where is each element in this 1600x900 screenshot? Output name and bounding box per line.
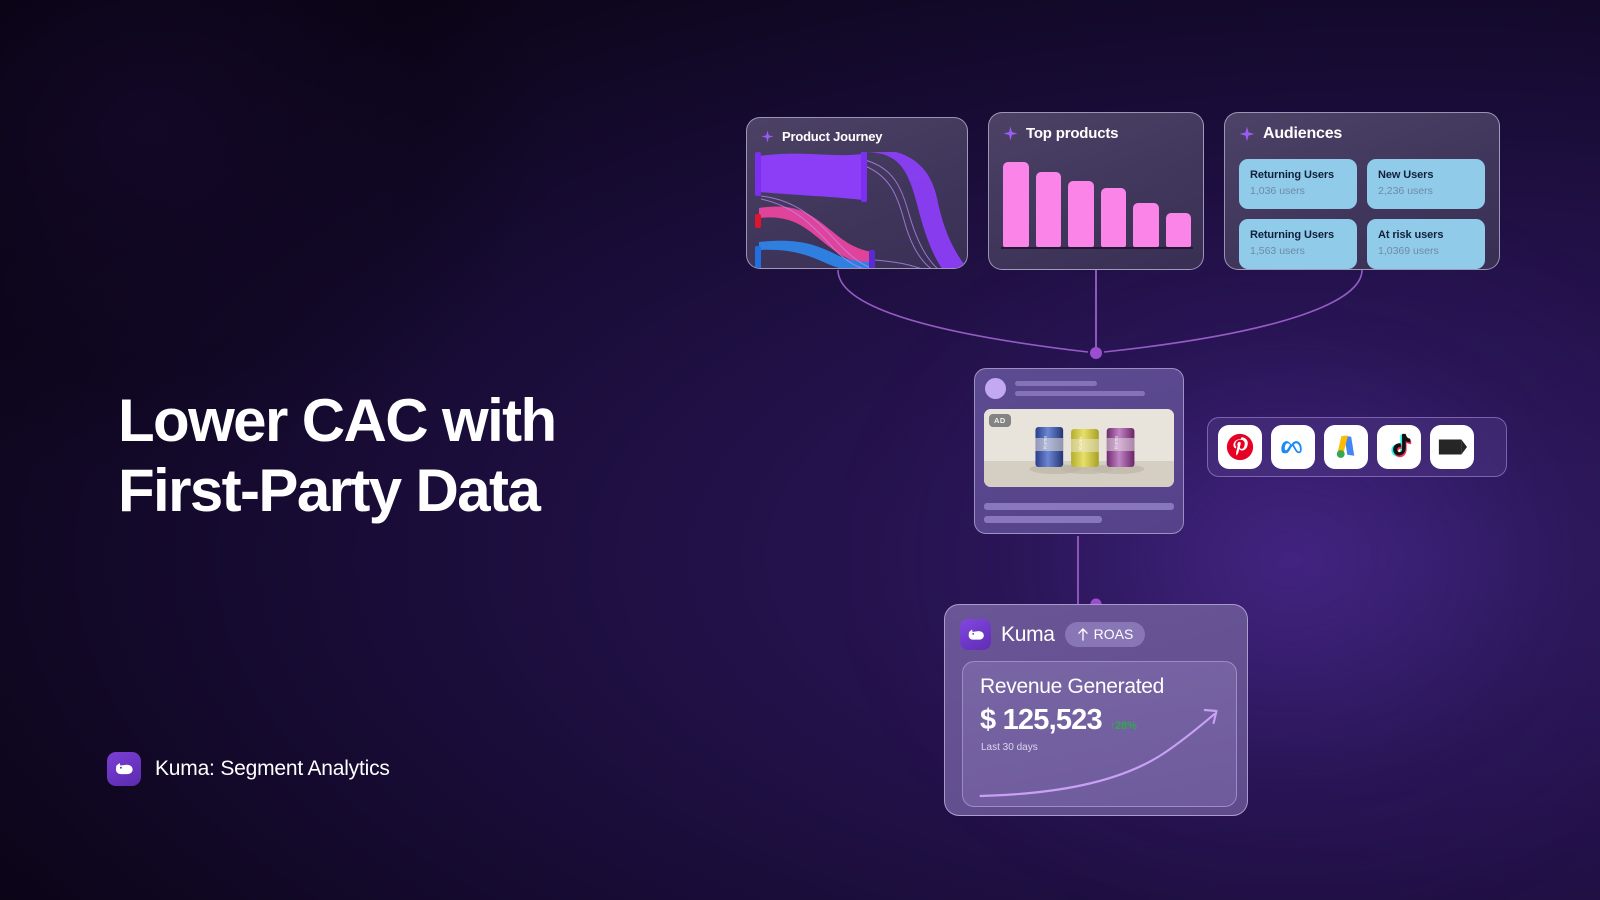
ad-badge: AD — [989, 414, 1011, 427]
ad-preview-card[interactable]: AD — [974, 368, 1184, 534]
svg-text:Kuma: Kuma — [1042, 436, 1048, 449]
sparkle-icon — [1003, 126, 1018, 141]
kuma-bear-logo-icon — [107, 752, 141, 786]
arrow-up-icon — [1077, 628, 1089, 641]
avatar — [985, 378, 1006, 399]
bar-2 — [1036, 172, 1062, 247]
brand-footer: Kuma: Segment Analytics — [107, 752, 390, 786]
tiktok-icon[interactable] — [1377, 425, 1421, 469]
audience-count: 1,563 users — [1250, 245, 1346, 257]
svg-text:Kuma: Kuma — [1078, 437, 1084, 450]
ad-header-placeholder-lines — [1015, 381, 1173, 396]
card-title-top-products: Top products — [1003, 125, 1118, 142]
card-title-audiences: Audiences — [1239, 125, 1342, 143]
page-title: Lower CAC with First-Party Data — [118, 386, 556, 526]
audience-count: 1,0369 users — [1378, 245, 1474, 257]
audience-tile-grid: Returning Users 1,036 users New Users 2,… — [1239, 159, 1485, 269]
audience-count: 2,236 users — [1378, 185, 1474, 197]
card-top-products[interactable]: Top products — [988, 112, 1204, 270]
sparkle-icon — [1239, 126, 1255, 142]
headline-line-1: Lower CAC with — [118, 387, 556, 454]
audience-name: Returning Users — [1250, 169, 1346, 181]
meta-icon[interactable] — [1271, 425, 1315, 469]
card-audiences[interactable]: Audiences Returning Users 1,036 users Ne… — [1224, 112, 1500, 270]
roas-pill-label: ROAS — [1094, 626, 1134, 642]
product-cans-image: Kuma Kuma Kuma — [984, 409, 1174, 487]
svg-text:Kuma: Kuma — [1114, 436, 1120, 449]
card-title-text: Top products — [1026, 125, 1118, 142]
ad-header — [985, 378, 1173, 399]
roas-header: Kuma ROAS — [960, 619, 1145, 650]
bar-6 — [1166, 213, 1192, 247]
chart-baseline — [1001, 247, 1193, 249]
snapchat-icon[interactable] — [1430, 425, 1474, 469]
sankey-chart — [747, 152, 968, 269]
ad-channels-strip — [1207, 417, 1507, 477]
audience-tile[interactable]: At risk users 1,0369 users — [1367, 219, 1485, 269]
card-roas-revenue[interactable]: Kuma ROAS Revenue Generated $ 125,523 ↑2… — [944, 604, 1248, 816]
audience-tile[interactable]: Returning Users 1,036 users — [1239, 159, 1357, 209]
audience-name: At risk users — [1378, 229, 1474, 241]
sparkle-icon — [761, 130, 774, 143]
audience-tile[interactable]: Returning Users 1,563 users — [1239, 219, 1357, 269]
audience-name: Returning Users — [1250, 229, 1346, 241]
headline-line-2: First-Party Data — [118, 456, 556, 526]
bar-3 — [1068, 181, 1094, 247]
bar-1 — [1003, 162, 1029, 247]
card-title-text: Product Journey — [782, 129, 882, 144]
placeholder-line — [1015, 391, 1145, 396]
card-title-product-journey: Product Journey — [761, 129, 882, 144]
status-badge: ROAS — [1065, 622, 1146, 647]
placeholder-line — [1015, 381, 1097, 386]
revenue-trend-line — [963, 696, 1236, 806]
bar-chart — [1003, 162, 1191, 247]
audience-count: 1,036 users — [1250, 185, 1346, 197]
card-product-journey[interactable]: Product Journey — [746, 117, 968, 269]
ad-media: AD — [984, 409, 1174, 487]
placeholder-line — [984, 503, 1174, 510]
ad-footer-placeholder-lines — [984, 503, 1174, 523]
kuma-bear-logo-icon — [960, 619, 991, 650]
google-ads-icon[interactable] — [1324, 425, 1368, 469]
pinterest-icon[interactable] — [1218, 425, 1262, 469]
audience-tile[interactable]: New Users 2,236 users — [1367, 159, 1485, 209]
brand-name: Kuma: Segment Analytics — [155, 757, 390, 781]
bar-4 — [1101, 188, 1127, 248]
hero-canvas: Lower CAC with First-Party Data Kuma: Se… — [0, 0, 1600, 900]
card-title-text: Audiences — [1263, 125, 1342, 143]
roas-brand-name: Kuma — [1001, 623, 1055, 647]
revenue-panel: Revenue Generated $ 125,523 ↑28% Last 30… — [962, 661, 1237, 807]
audience-name: New Users — [1378, 169, 1474, 181]
bar-5 — [1133, 203, 1159, 247]
placeholder-line — [984, 516, 1102, 523]
